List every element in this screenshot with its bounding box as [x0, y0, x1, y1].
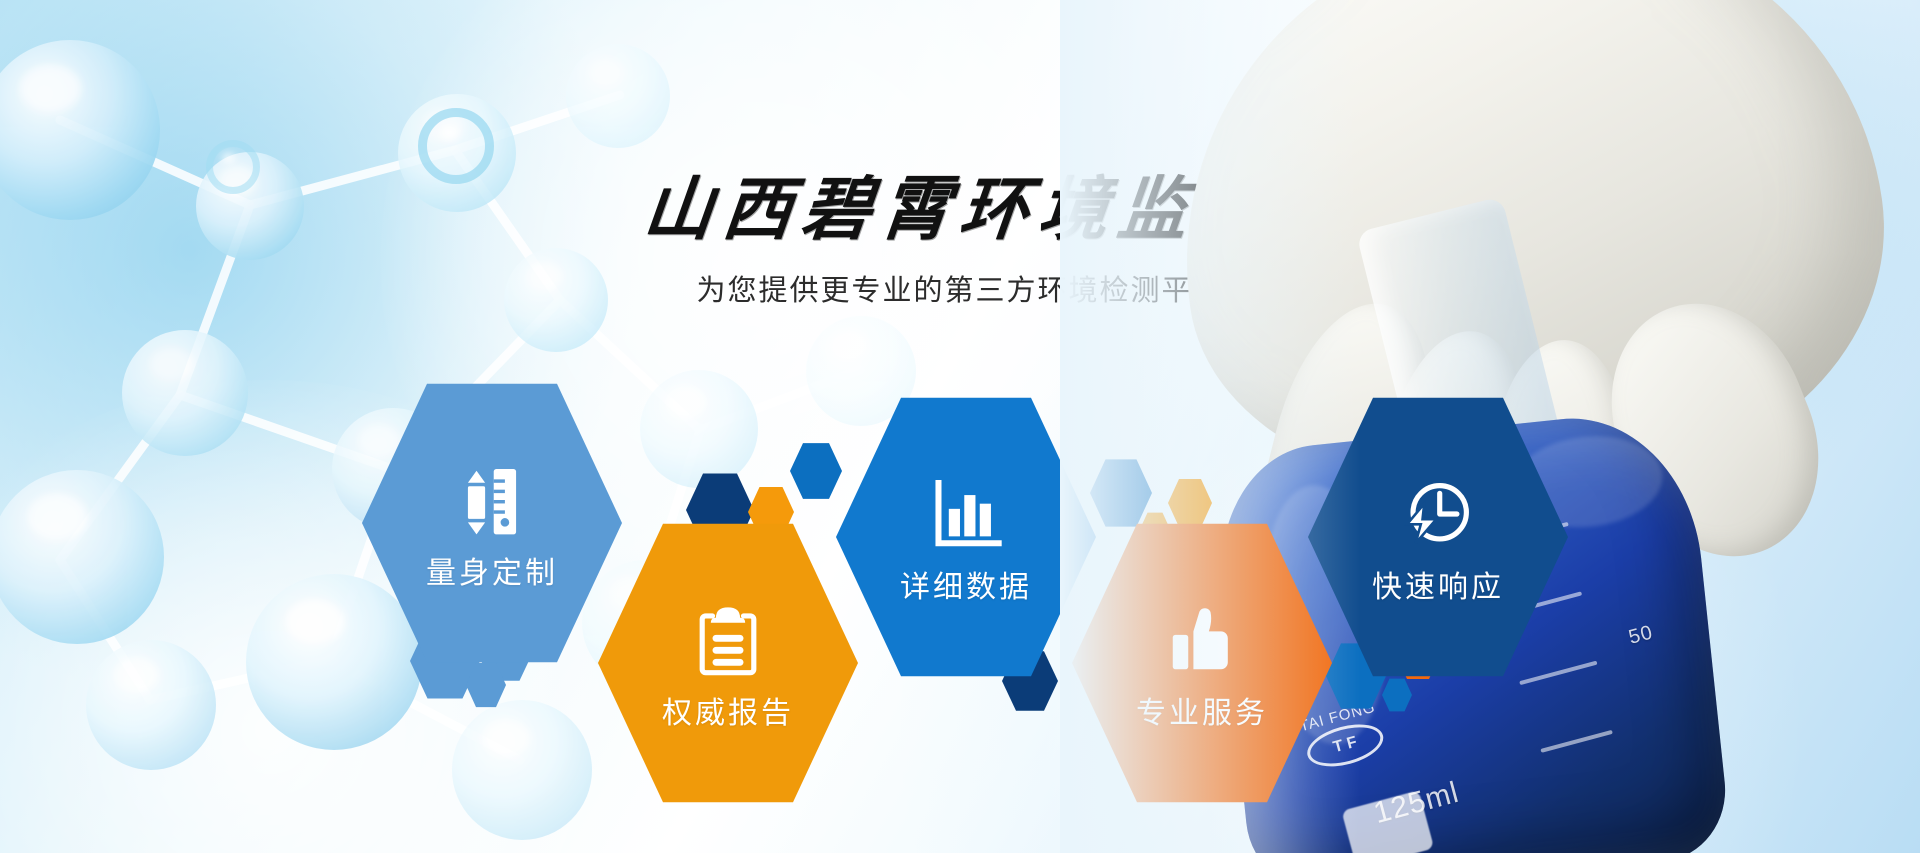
molecule-atom [452, 700, 592, 840]
clipboard-icon [685, 597, 771, 683]
molecule-atom [122, 330, 248, 456]
bubble-ring [418, 108, 494, 184]
molecule-atom [566, 44, 670, 148]
bubble-ring [206, 140, 260, 194]
molecule-atom [86, 640, 216, 770]
pencil-ruler-icon [449, 457, 535, 543]
graduation-mark [1519, 661, 1597, 686]
graduation-label-50: 50 [1626, 621, 1655, 649]
bar-chart-icon [923, 471, 1009, 557]
molecule-atom [640, 370, 758, 488]
feature-label: 量身定制 [426, 559, 558, 589]
molecule-atom [504, 248, 608, 352]
graduation-mark [1540, 730, 1613, 753]
feature-label: 详细数据 [900, 573, 1032, 603]
molecule-atom [246, 574, 422, 750]
hero-banner: 山西碧霄环境监测 为您提供更专业的第三方环境检测平台 100 50 125ml [0, 0, 1920, 853]
feature-label: 权威报告 [662, 699, 794, 729]
clock-bolt-icon [1395, 471, 1481, 557]
feature-label: 快速响应 [1372, 573, 1504, 603]
photo-fade-overlay [1060, 0, 1360, 853]
